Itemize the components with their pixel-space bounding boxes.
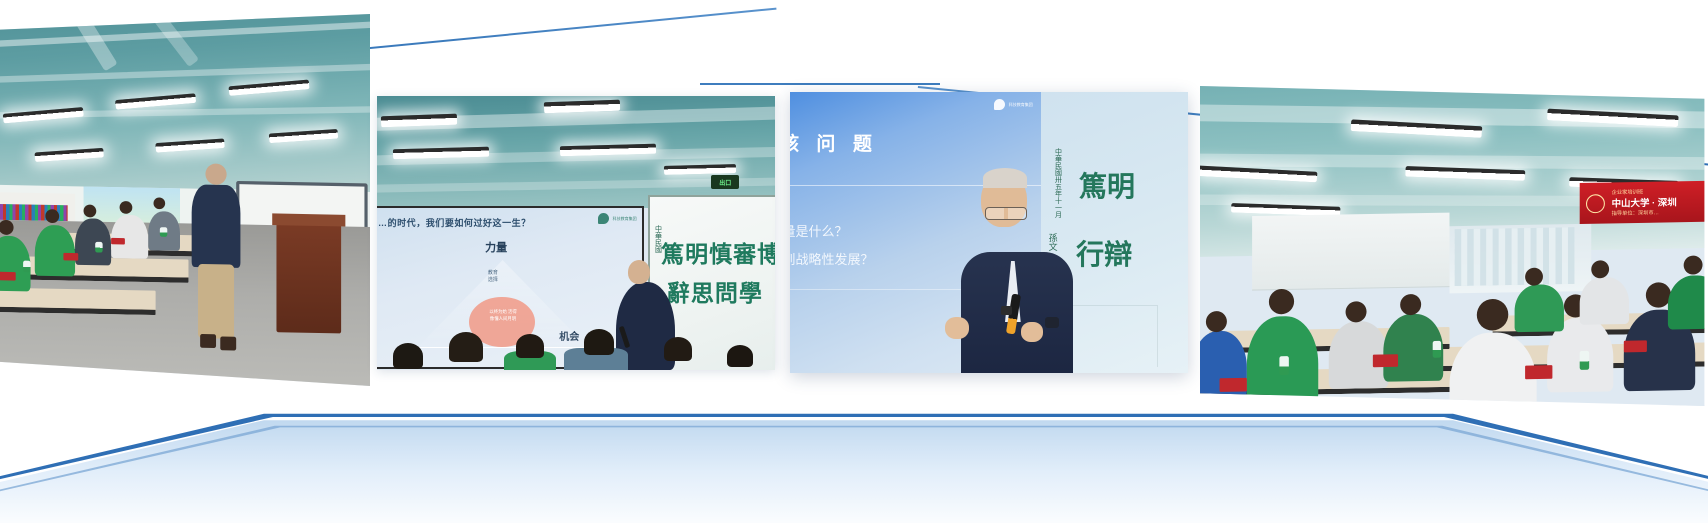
banner-title: 中山大学 · 深圳 bbox=[1612, 195, 1677, 210]
university-seal-icon bbox=[1586, 194, 1605, 213]
projection-center-label: 力量 bbox=[485, 239, 507, 255]
calligraphy-line-1: 篤明 bbox=[1079, 165, 1135, 205]
calligraphy-line-2: 辭思問學 bbox=[667, 274, 763, 308]
slide-4-banner: 企业家培训班 中山大学 · 深圳 指导单位：深圳市… bbox=[1580, 180, 1708, 224]
exit-sign: 出口 bbox=[711, 175, 739, 189]
brand-logo-icon bbox=[598, 213, 609, 224]
slide-4-photo: 企业家培训班 中山大学 · 深圳 指导单位：深圳市… bbox=[1200, 86, 1708, 406]
calligraphy-side-text: 中華民國 bbox=[652, 225, 662, 253]
calligraphy-line-2: 行辯 bbox=[1076, 233, 1132, 273]
carousel-slide-1[interactable] bbox=[0, 14, 370, 386]
slide-1-photo bbox=[0, 14, 370, 386]
calligraphy-side-text: 中華民國卅五年十一月 bbox=[1053, 148, 1063, 218]
projection-brand: 科技教育集团 bbox=[598, 213, 637, 224]
calligraphy-line-1: 篤明慎審博 bbox=[661, 235, 775, 269]
brand-name: 科技教育集团 bbox=[613, 216, 637, 221]
projection-bullet-2: 到战略性发展？ bbox=[790, 249, 874, 268]
slide-2-photo: 出口 科技教育集团 …的时代，我们要如何过好这一生？ 力量 机会 以终为始 活得… bbox=[377, 96, 775, 370]
carousel-slide-3-active[interactable]: 科技教育集团 核 问 题 量是什么？ 到战略性发展？ 篤明 行辯 中華民國卅五年… bbox=[790, 92, 1188, 373]
calligraphy-signature: 孫文 bbox=[1047, 233, 1060, 251]
perspective-line-top-mid bbox=[700, 83, 940, 85]
projection-triangle-top: 教育 选择 bbox=[488, 270, 498, 285]
banner-org-line: 指导单位：深圳市… bbox=[1612, 209, 1677, 217]
glasses-icon bbox=[985, 207, 1027, 220]
brand-logo-icon bbox=[994, 99, 1005, 110]
projection-brand: 科技教育集团 bbox=[994, 99, 1033, 110]
exit-sign-label: 出口 bbox=[719, 178, 731, 187]
carousel-slide-4[interactable]: 企业家培训班 中山大学 · 深圳 指导单位：深圳市… bbox=[1200, 86, 1708, 406]
slide-3-photo: 科技教育集团 核 问 题 量是什么？ 到战略性发展？ 篤明 行辯 中華民國卅五年… bbox=[790, 92, 1188, 373]
projection-headline: 核 问 题 bbox=[790, 129, 878, 156]
projection-bullet-1: 量是什么？ bbox=[790, 221, 848, 240]
brand-name: 科技教育集团 bbox=[1009, 102, 1033, 107]
projection-circle-text: 以终为始 活得 像懂人间月明 bbox=[474, 309, 532, 322]
projection-headline: …的时代，我们要如何过好这一生？ bbox=[378, 216, 531, 229]
carousel-slide-2[interactable]: 出口 科技教育集团 …的时代，我们要如何过好这一生？ 力量 机会 以终为始 活得… bbox=[377, 96, 775, 370]
carousel-stage: 出口 科技教育集团 …的时代，我们要如何过好这一生？ 力量 机会 以终为始 活得… bbox=[0, 0, 1708, 523]
